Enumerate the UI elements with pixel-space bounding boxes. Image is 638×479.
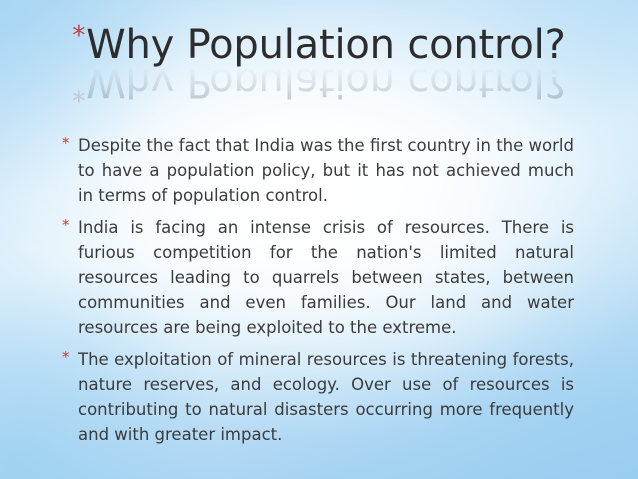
title-reflection-asterisk-icon: * [72,76,85,106]
slide-body: * Despite the fact that India was the fi… [62,133,574,447]
list-item-text: The exploitation of mineral resources is… [78,347,574,447]
slide-title: *Why Population control? [72,22,565,68]
bullet-asterisk-icon: * [62,347,70,367]
list-item-text: Despite the fact that India was the firs… [78,133,574,208]
bullet-asterisk-icon: * [62,215,70,235]
slide-title-block: *Why Population control? *Why Population… [0,22,638,105]
list-item-text: India is facing an intense crisis of res… [78,215,574,340]
list-item: * Despite the fact that India was the fi… [62,133,574,208]
list-item: * India is facing an intense crisis of r… [62,215,574,340]
title-asterisk-icon: * [72,21,85,51]
title-text: Why Population control? [86,22,565,68]
list-item: * The exploitation of mineral resources … [62,347,574,447]
bullet-asterisk-icon: * [62,133,70,153]
slide-canvas: *Why Population control? *Why Population… [0,0,638,479]
